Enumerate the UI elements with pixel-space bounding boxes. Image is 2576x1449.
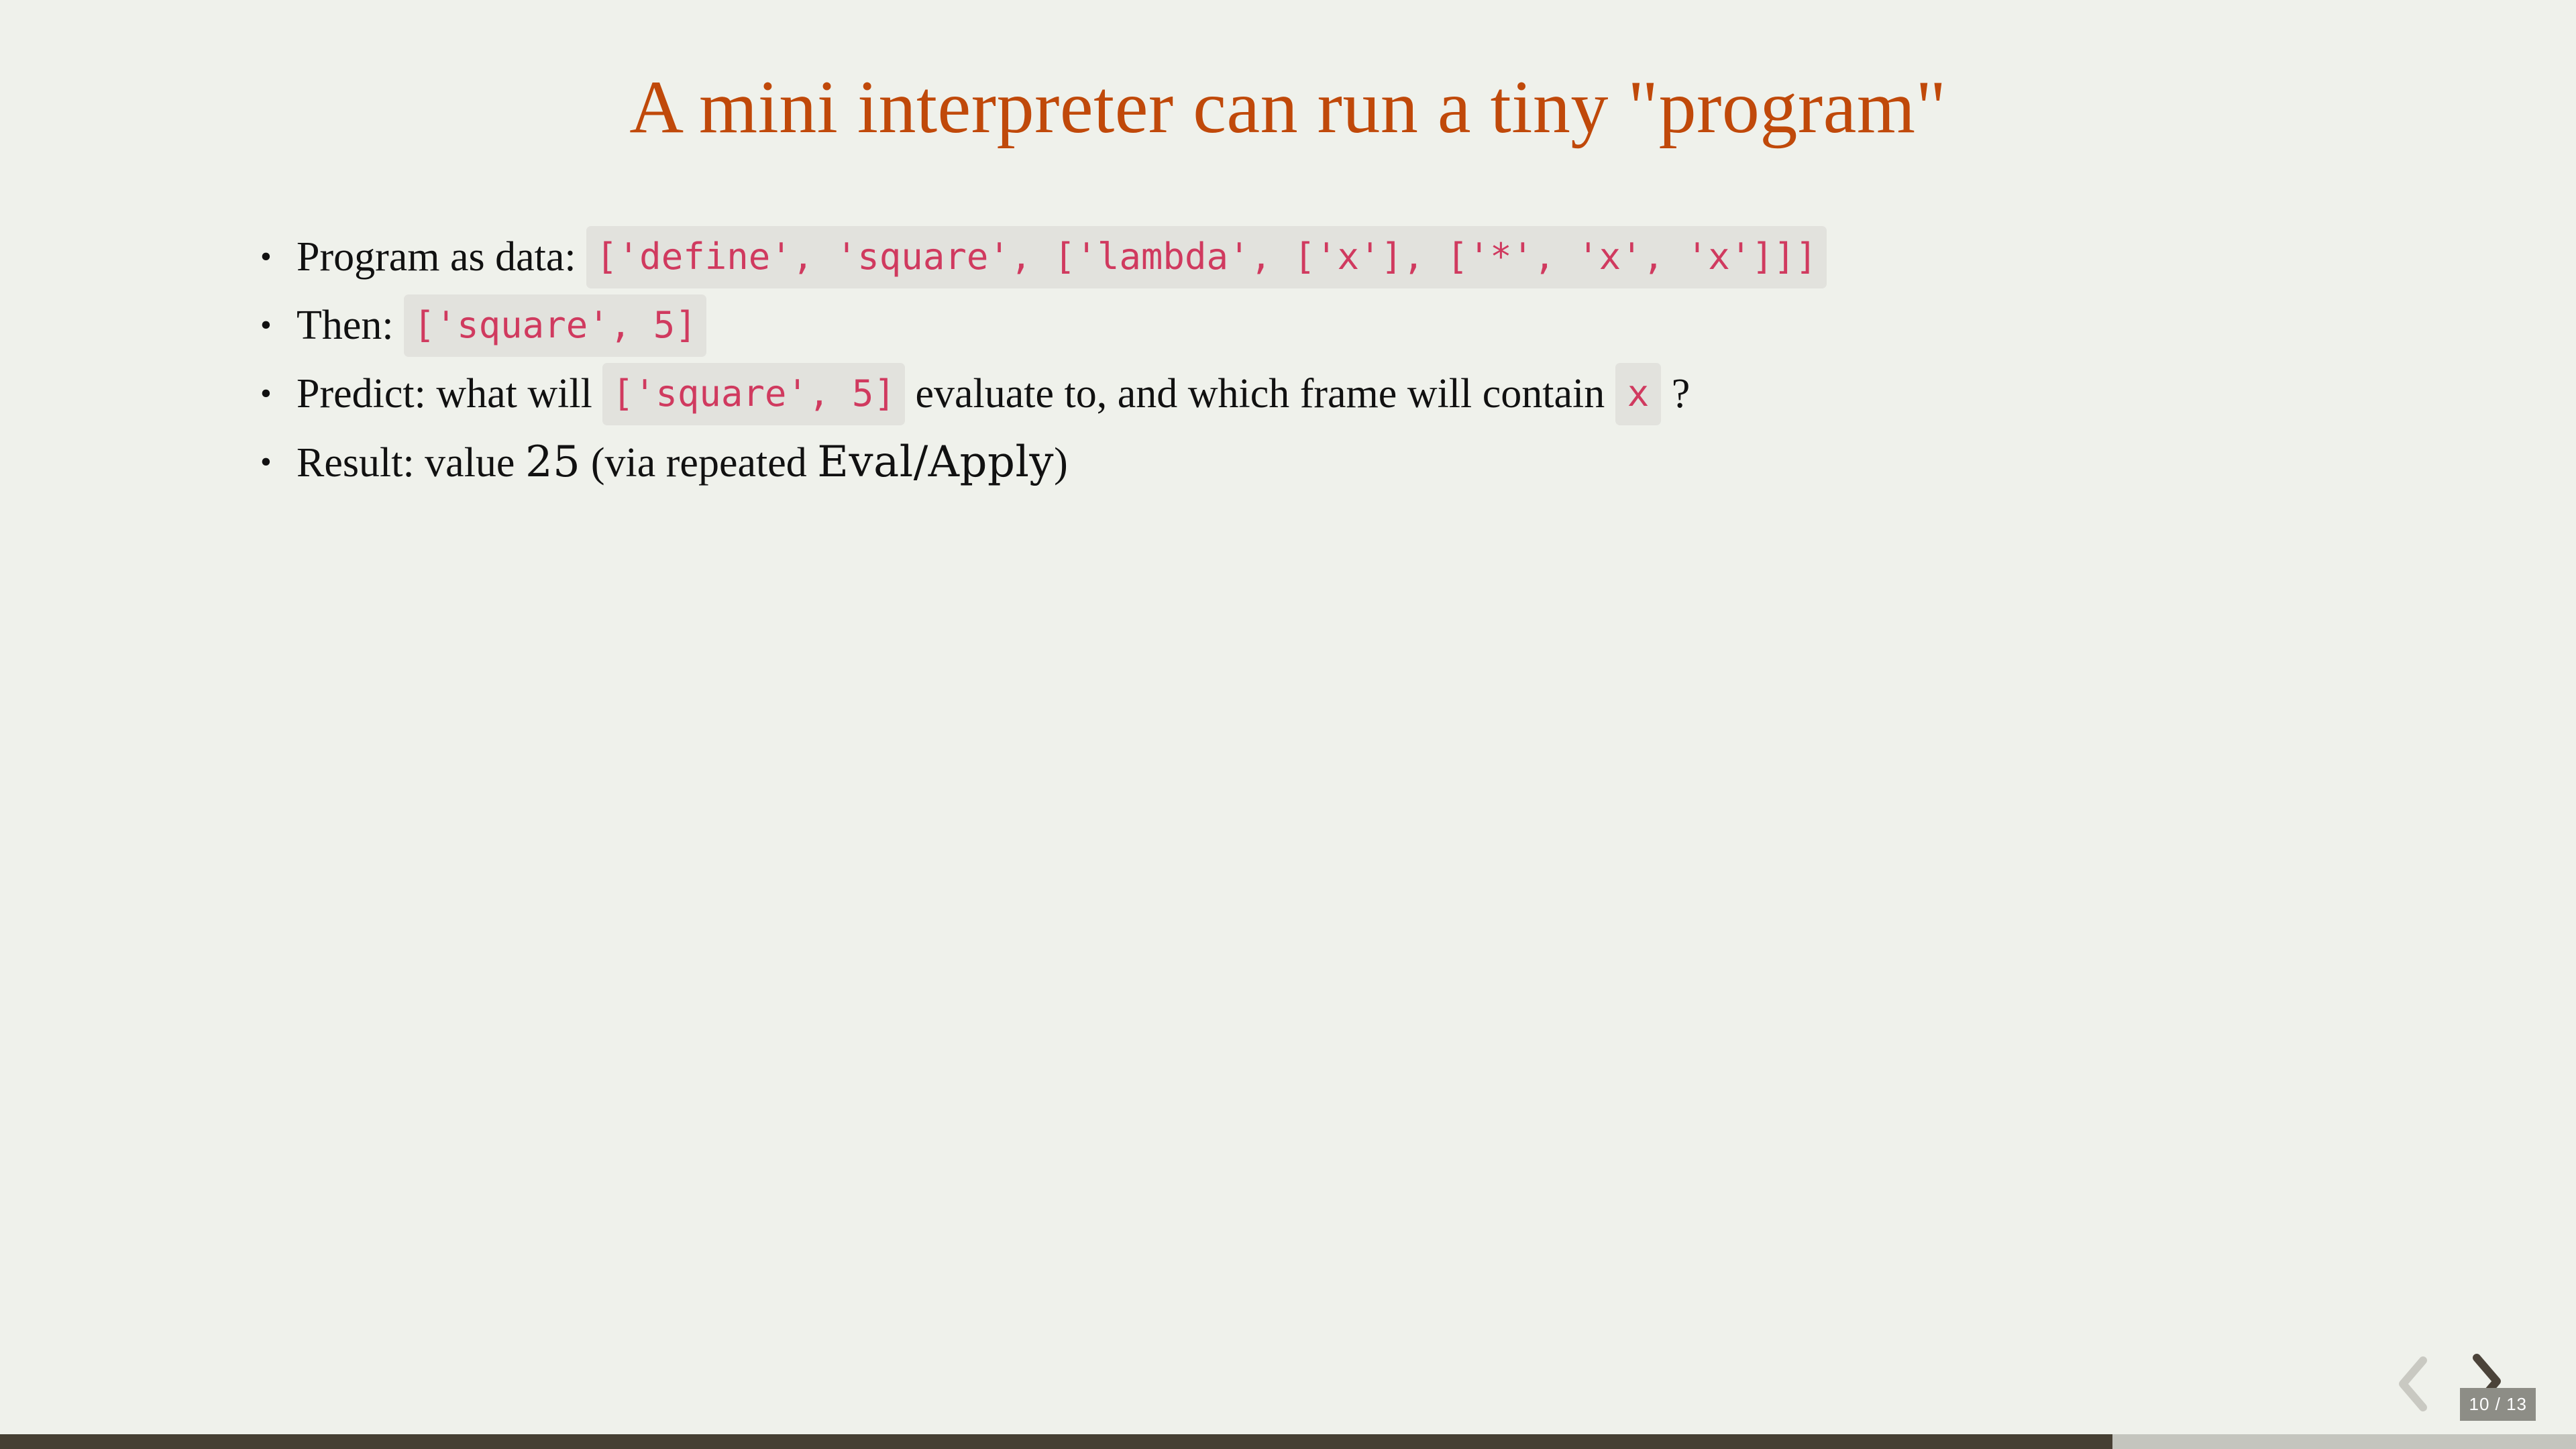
slide-counter[interactable]: 10 / 13: [2460, 1388, 2536, 1421]
list-item-result: Result: value 25 (via repeated Eval/Appl…: [255, 428, 2469, 497]
bullet-text: ?: [1672, 371, 1690, 417]
code-chip-call-predict: ['square', 5]: [602, 363, 905, 425]
bullet-text: Predict: what will: [297, 371, 592, 417]
bullet-text: Result: value: [297, 440, 515, 486]
bullet-text: evaluate to, and which frame will contai…: [915, 371, 1605, 417]
math-eval-apply: Eval/Apply: [817, 437, 1054, 487]
slide: A mini interpreter can run a tiny "progr…: [0, 0, 2576, 1449]
presentation-deck: A mini interpreter can run a tiny "progr…: [0, 0, 2576, 1449]
list-item-program-as-data: Program as data: ['define', 'square', ['…: [255, 223, 2469, 291]
math-value-25: 25: [525, 437, 580, 487]
bullet-text: (via repeated: [591, 440, 807, 486]
page-title: A mini interpreter can run a tiny "progr…: [0, 64, 2576, 152]
progress-bar: [0, 1434, 2112, 1449]
slide-controls: 10 / 13: [2394, 1351, 2548, 1425]
code-chip-call: ['square', 5]: [404, 294, 706, 357]
bullet-list: Program as data: ['define', 'square', ['…: [255, 223, 2469, 497]
bullet-text: ): [1054, 440, 1068, 486]
bullet-text: Program as data:: [297, 234, 576, 280]
code-chip-variable-x: x: [1615, 363, 1662, 425]
code-chip-program: ['define', 'square', ['lambda', ['x'], […: [586, 226, 1827, 288]
chevron-left-icon: [2394, 1354, 2434, 1414]
progress-track[interactable]: [0, 1434, 2576, 1449]
bullet-text: Then:: [297, 303, 394, 348]
list-item-then-call: Then: ['square', 5]: [255, 291, 2469, 360]
previous-slide-button[interactable]: [2394, 1354, 2434, 1414]
list-item-predict: Predict: what will ['square', 5] evaluat…: [255, 360, 2469, 428]
